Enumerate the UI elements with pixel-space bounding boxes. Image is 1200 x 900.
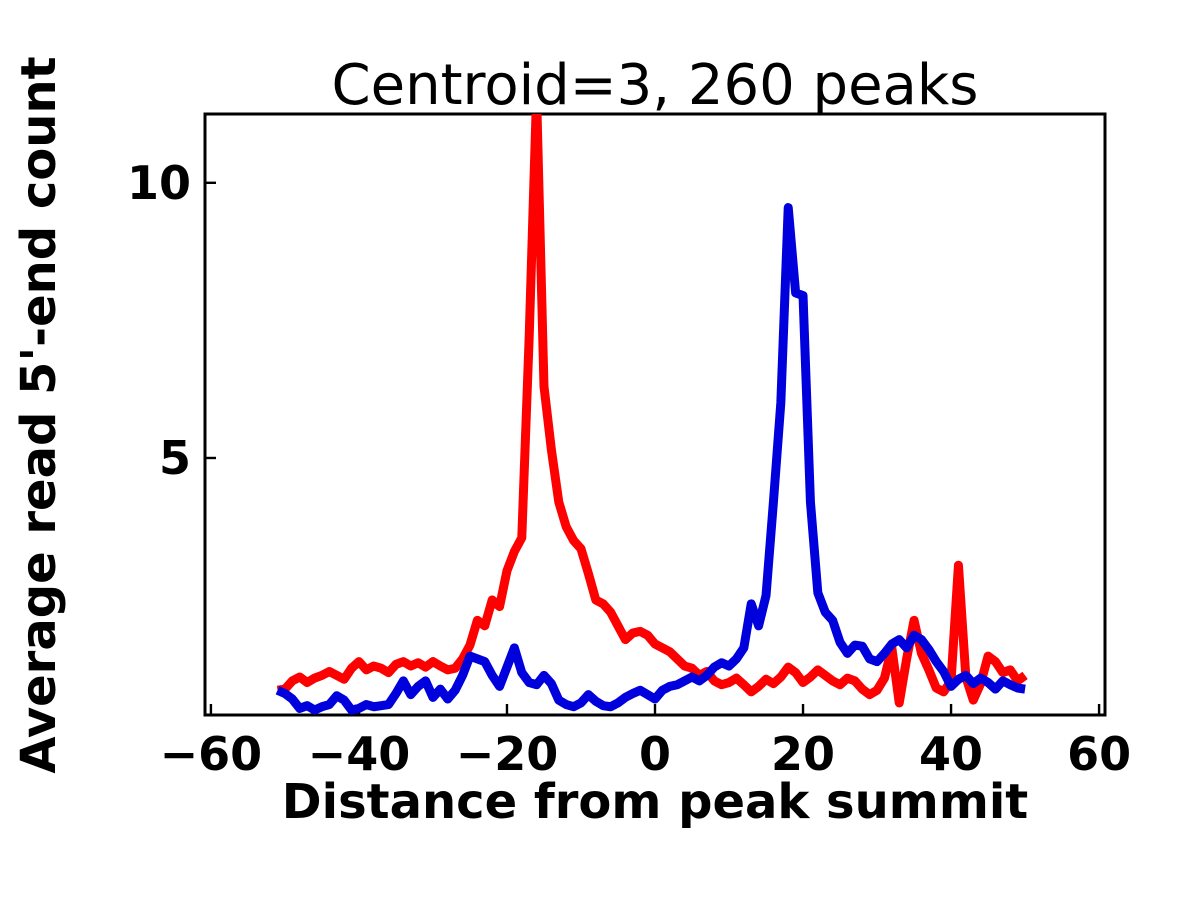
x-tick-label: 20 <box>771 727 835 781</box>
chart-title: Centroid=3, 260 peaks <box>332 53 979 118</box>
x-tick-label: 0 <box>639 727 671 781</box>
y-tick-label: 10 <box>127 156 191 210</box>
x-tick-label: −20 <box>456 727 559 781</box>
x-axis-label: Distance from peak summit <box>282 774 1028 830</box>
figure-canvas: Centroid=3, 260 peaks Average read 5'-en… <box>0 0 1200 900</box>
x-tick-label: −40 <box>308 727 411 781</box>
y-axis-label: Average read 5'-end count <box>11 56 67 773</box>
x-tick-label: 40 <box>919 727 983 781</box>
chart-figure: Centroid=3, 260 peaks Average read 5'-en… <box>0 0 1200 900</box>
x-tick-label: −60 <box>160 727 263 781</box>
y-tick-label: 5 <box>159 431 191 485</box>
x-tick-label: 60 <box>1067 727 1131 781</box>
